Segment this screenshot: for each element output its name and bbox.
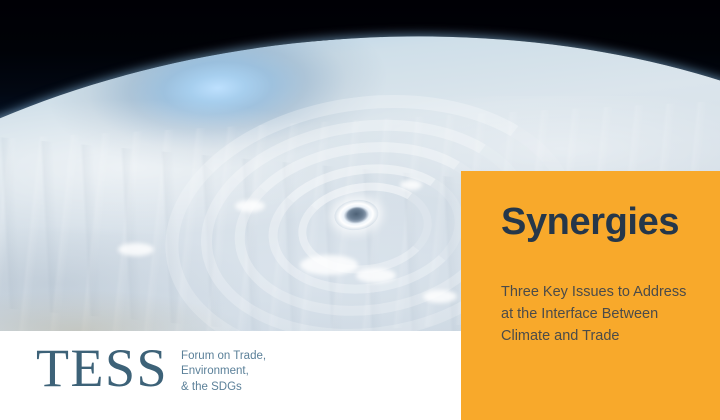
cloud-cell: [235, 200, 265, 212]
logo-tagline-line: & the SDGs: [181, 380, 266, 395]
page-subtitle-line: Three Key Issues to Address: [501, 281, 701, 303]
cloud-cell: [300, 255, 358, 275]
cloud-cell: [118, 243, 154, 256]
land-tint: [0, 287, 300, 331]
logo-tagline-line: Forum on Trade,: [181, 349, 266, 364]
logo-tagline: Forum on Trade, Environment, & the SDGs: [181, 349, 266, 395]
logo-wordmark: TESS: [36, 343, 168, 393]
page-title: Synergies: [501, 203, 679, 241]
slide: Synergies Three Key Issues to Address at…: [0, 0, 720, 420]
cloud-cell: [356, 268, 396, 283]
title-panel: Synergies Three Key Issues to Address at…: [461, 171, 720, 420]
page-subtitle-line: at the Interface Between: [501, 303, 701, 325]
cloud-cell: [400, 180, 422, 190]
page-subtitle: Three Key Issues to Address at the Inter…: [501, 281, 701, 347]
footer-bar: TESS Forum on Trade, Environment, & the …: [0, 331, 461, 420]
cloud-cell: [423, 290, 457, 303]
page-subtitle-line: Climate and Trade: [501, 325, 701, 347]
logo-tagline-line: Environment,: [181, 364, 266, 379]
tess-logo: TESS Forum on Trade, Environment, & the …: [36, 343, 266, 395]
